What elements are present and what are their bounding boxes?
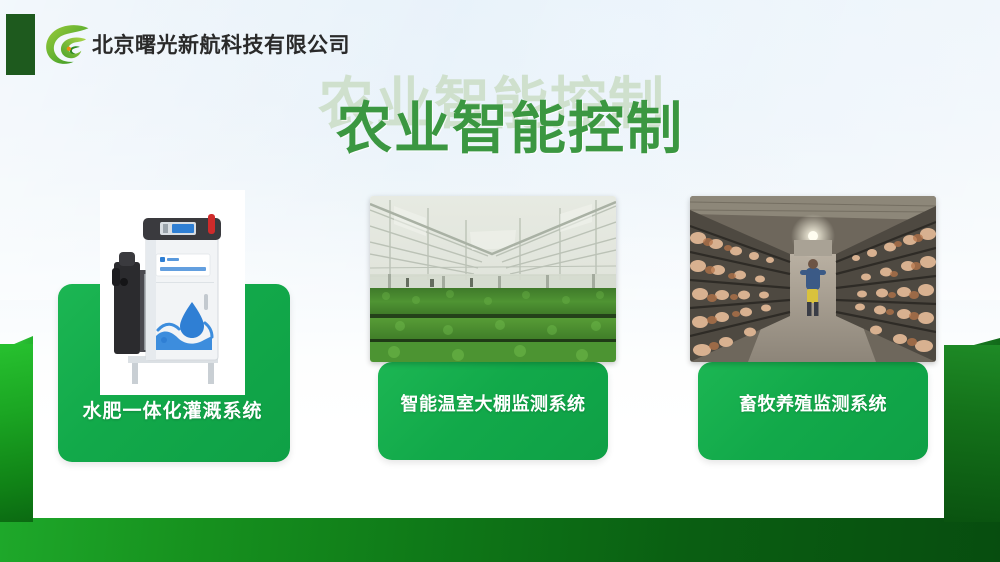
slide-canvas: 北京曙光新航科技有限公司 农业智能控制 农业智能控制 bbox=[0, 0, 1000, 562]
fertigation-machine-photo bbox=[100, 190, 245, 395]
card-irrigation-label: 水肥一体化灌溉系统 bbox=[55, 396, 290, 423]
header-mark-icon bbox=[6, 14, 35, 75]
right-green-block bbox=[944, 345, 1000, 522]
poultry-house-photo bbox=[690, 196, 936, 362]
page-title: 农业智能控制 农业智能控制 bbox=[318, 76, 698, 156]
card-livestock[interactable]: 畜牧养殖监测系统 bbox=[690, 196, 936, 460]
card-irrigation[interactable]: 水肥一体化灌溉系统 bbox=[55, 190, 290, 462]
bottom-green-band bbox=[0, 518, 1000, 562]
card-greenhouse-label: 智能温室大棚监测系统 bbox=[370, 390, 616, 416]
card-livestock-label: 畜牧养殖监测系统 bbox=[690, 390, 936, 416]
card-greenhouse[interactable]: 智能温室大棚监测系统 bbox=[370, 196, 616, 460]
greenhouse-interior-photo bbox=[370, 196, 616, 362]
company-name: 北京曙光新航科技有限公司 bbox=[92, 29, 350, 59]
page-title-text: 农业智能控制 bbox=[336, 101, 684, 157]
left-green-bar bbox=[0, 344, 33, 522]
company-logo-icon bbox=[42, 22, 90, 66]
